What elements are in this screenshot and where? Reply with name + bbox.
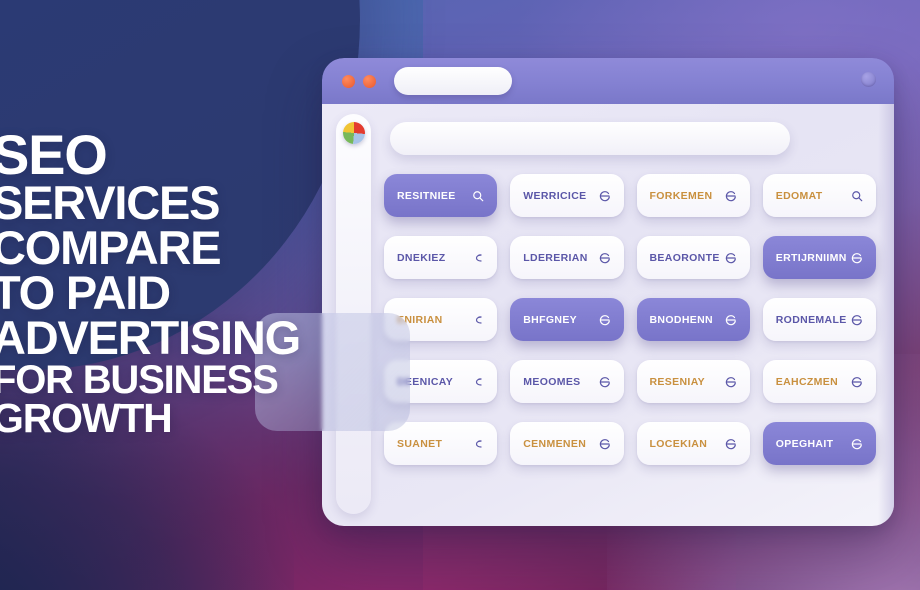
viewport-edge-shade <box>878 104 894 526</box>
grid-card[interactable]: EAHCZMEN <box>763 360 876 403</box>
headline-line-2: SERVICES <box>0 181 392 226</box>
grid-card[interactable]: BNODHENN <box>637 298 750 341</box>
grid-card-label: EDOMAT <box>776 190 823 202</box>
grid-card[interactable]: DNEKIEZ <box>384 236 497 279</box>
close-dot-icon[interactable] <box>342 75 355 88</box>
minimize-dot-icon[interactable] <box>363 75 376 88</box>
browser-tab[interactable] <box>394 67 512 95</box>
headline-line-1: SEO <box>0 128 392 181</box>
grid-card-label: MEOOMES <box>523 376 580 388</box>
grid-card-label: LOCEKIAN <box>650 438 708 450</box>
refresh-icon[interactable] <box>725 314 737 326</box>
refresh-icon[interactable] <box>599 438 611 450</box>
refresh-icon[interactable] <box>851 252 863 264</box>
grid-card[interactable]: RESENIAY <box>637 360 750 403</box>
search-input[interactable] <box>390 122 790 155</box>
grid-card[interactable]: OPEGHAIT <box>763 422 876 465</box>
headline-line-7: GROWTH <box>0 399 392 438</box>
refresh-icon[interactable] <box>851 376 863 388</box>
grid-card-label: OPEGHAIT <box>776 438 834 450</box>
grid-card-label: SUANET <box>397 438 442 450</box>
headline-line-6: FOR BUSINESS <box>0 361 392 399</box>
grid-card[interactable]: RODNEMALE <box>763 298 876 341</box>
browser-window: RESITNIEE WERRICICE FORKEMEN EDOMAT DNEK… <box>322 58 894 526</box>
grid-card[interactable]: MEOOMES <box>510 360 623 403</box>
grid-card-label: FORKEMEN <box>650 190 713 202</box>
grid-card-label: DNEKIEZ <box>397 252 446 264</box>
grid-card[interactable]: SUANET <box>384 422 497 465</box>
headline-line-3: COMPARE <box>0 226 392 271</box>
search-icon[interactable] <box>851 190 863 202</box>
refresh-icon[interactable] <box>725 252 737 264</box>
share-icon[interactable] <box>472 252 484 264</box>
refresh-icon[interactable] <box>725 190 737 202</box>
refresh-icon[interactable] <box>851 438 863 450</box>
grid-card-label: WERRICICE <box>523 190 586 202</box>
grid-card[interactable]: CENMENEN <box>510 422 623 465</box>
refresh-icon[interactable] <box>725 376 737 388</box>
share-icon[interactable] <box>472 438 484 450</box>
headline-line-4: TO PAID <box>0 271 392 316</box>
card-grid: RESITNIEE WERRICICE FORKEMEN EDOMAT DNEK… <box>384 174 876 465</box>
grid-card[interactable]: LDERERIAN <box>510 236 623 279</box>
grid-card-label: CENMENEN <box>523 438 586 450</box>
share-icon[interactable] <box>472 314 484 326</box>
grid-card[interactable]: LOCEKIAN <box>637 422 750 465</box>
refresh-icon[interactable] <box>599 376 611 388</box>
grid-card-label: ERTIJRNIIMN <box>776 252 847 264</box>
refresh-icon[interactable] <box>851 314 863 326</box>
refresh-icon[interactable] <box>725 438 737 450</box>
headline-block: SEO SERVICES COMPARE TO PAID ADVERTISING… <box>0 128 392 438</box>
grid-card-label: BHFGNEY <box>523 314 577 326</box>
browser-titlebar <box>322 58 894 104</box>
grid-card[interactable]: WERRICICE <box>510 174 623 217</box>
refresh-icon[interactable] <box>599 314 611 326</box>
grid-card[interactable]: BHFGNEY <box>510 298 623 341</box>
grid-card-label: EAHCZMEN <box>776 376 838 388</box>
browser-viewport: RESITNIEE WERRICICE FORKEMEN EDOMAT DNEK… <box>322 104 894 526</box>
grid-card-label: RESENIAY <box>650 376 706 388</box>
grid-card-label: RESITNIEE <box>397 190 456 202</box>
menu-dot-icon[interactable] <box>861 72 876 87</box>
refresh-icon[interactable] <box>599 190 611 202</box>
grid-card-label: BEAORONTE <box>650 252 720 264</box>
grid-card-label: LDERERIAN <box>523 252 587 264</box>
grid-card[interactable]: RESITNIEE <box>384 174 497 217</box>
grid-card-label: BNODHENN <box>650 314 713 326</box>
grid-card[interactable]: BEAORONTE <box>637 236 750 279</box>
refresh-icon[interactable] <box>599 252 611 264</box>
grid-card[interactable]: FORKEMEN <box>637 174 750 217</box>
grid-card[interactable]: ERTIJRNIIMN <box>763 236 876 279</box>
grid-card[interactable]: EDOMAT <box>763 174 876 217</box>
search-icon[interactable] <box>472 190 484 202</box>
grid-card-label: RODNEMALE <box>776 314 847 326</box>
headline-line-5: ADVERTISING <box>0 316 392 361</box>
share-icon[interactable] <box>472 376 484 388</box>
